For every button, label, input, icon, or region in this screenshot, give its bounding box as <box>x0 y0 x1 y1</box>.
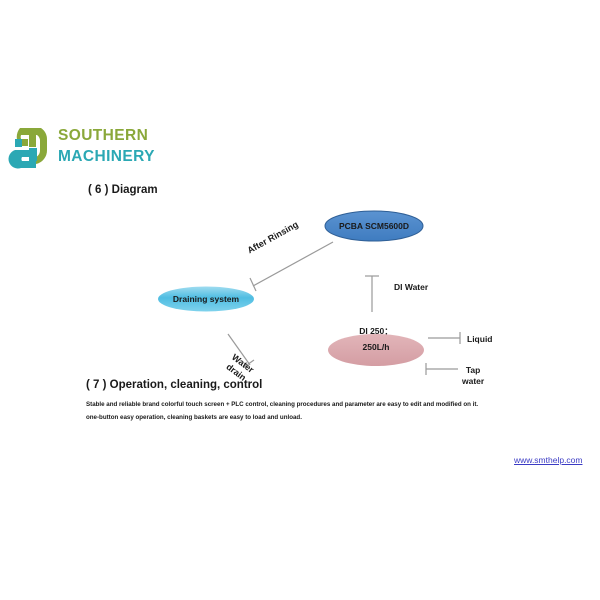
body-line-1: Stable and reliable brand colorful touch… <box>86 399 506 412</box>
connector-label-tap-water-line1: Tap <box>462 365 484 376</box>
node-ellipse-draining-system[interactable] <box>158 287 254 312</box>
connector-label-liquid: Liquid <box>467 334 493 345</box>
node-ellipse-pcba[interactable] <box>325 211 423 241</box>
body-paragraph: Stable and reliable brand colorful touch… <box>86 399 506 424</box>
body-line-2: one-button easy operation, cleaning bask… <box>86 412 506 425</box>
footer-website-link[interactable]: www.smthelp.com <box>514 455 583 465</box>
heading-operation: ( 7 ) Operation, cleaning, control <box>86 379 262 391</box>
connector-di-water <box>365 276 379 312</box>
connector-tap-water <box>426 363 458 375</box>
slide-canvas: SOUTHERN MACHINERY ( 6 ) Diagram <box>0 0 600 600</box>
connector-label-tap-water-line2: water <box>462 376 484 387</box>
node-ellipse-di250[interactable] <box>328 334 424 366</box>
connector-label-di-water: DI Water <box>394 282 428 293</box>
connector-liquid <box>428 332 460 344</box>
process-diagram: PCBA SCM5600D Draining system DI 250： 25… <box>0 0 600 600</box>
connector-label-tap-water: Tap water <box>462 365 484 387</box>
connector-after-rinsing <box>250 242 333 291</box>
